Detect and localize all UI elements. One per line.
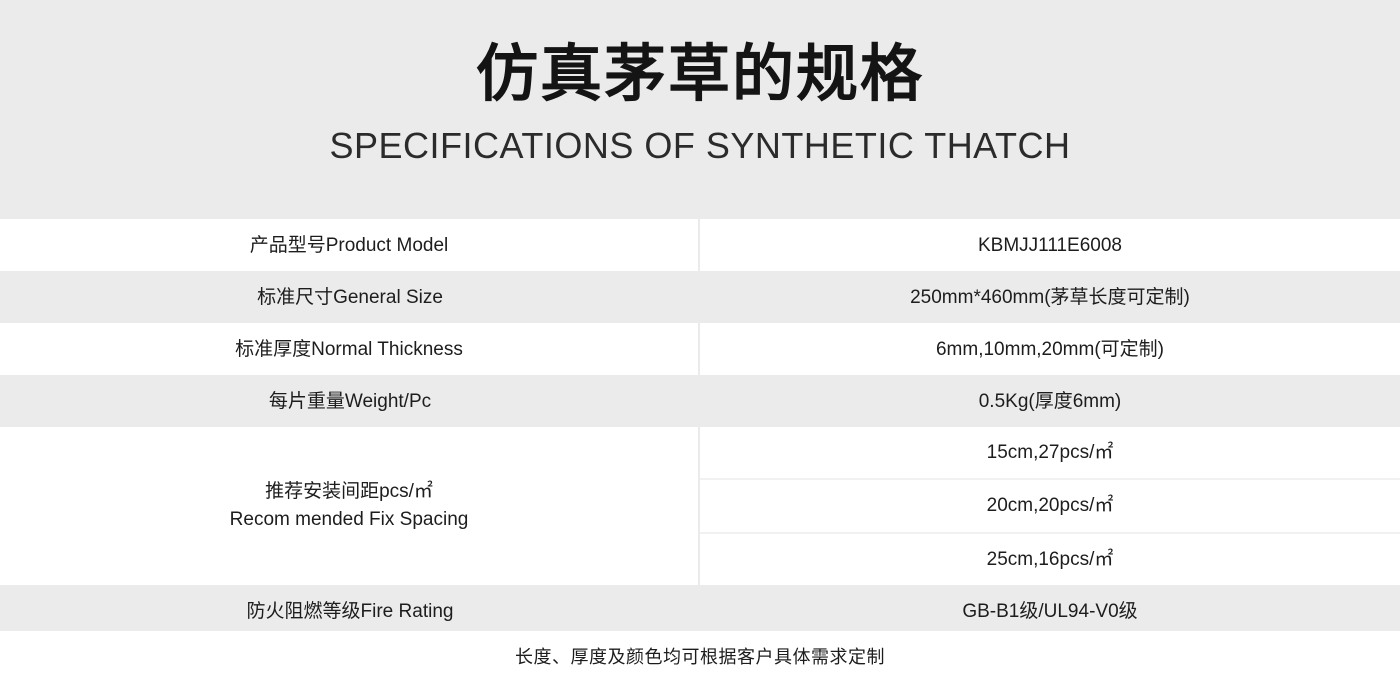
spec-label: 标准厚度Normal Thickness [0, 323, 700, 375]
spec-value: 6mm,10mm,20mm(可定制) [700, 323, 1400, 375]
spacing-label-cn: 推荐安装间距pcs/㎡ [230, 478, 469, 506]
table-row: 产品型号Product Model KBMJJ111E6008 [0, 219, 1400, 271]
spec-value: 0.5Kg(厚度6mm) [700, 375, 1400, 427]
spec-value: 250mm*460mm(茅草长度可定制) [700, 271, 1400, 323]
page-title-en: SPECIFICATIONS OF SYNTHETIC THATCH [329, 124, 1070, 168]
spacing-value-item: 20cm,20pcs/㎡ [700, 480, 1400, 533]
page-title-cn: 仿真茅草的规格 [476, 36, 924, 112]
page-header: 仿真茅草的规格 SPECIFICATIONS OF SYNTHETIC THAT… [0, 0, 1400, 219]
spec-label: 防火阻燃等级Fire Rating [0, 585, 700, 637]
spacing-label-en: Recom mended Fix Spacing [230, 506, 469, 534]
specifications-table: 产品型号Product Model KBMJJ111E6008 标准尺寸Gene… [0, 219, 1400, 637]
spec-label: 标准尺寸General Size [0, 271, 700, 323]
table-row: 每片重量Weight/Pc 0.5Kg(厚度6mm) [0, 375, 1400, 427]
spacing-values-group: 15cm,27pcs/㎡ 20cm,20pcs/㎡ 25cm,16pcs/㎡ [700, 427, 1400, 585]
spacing-value-item: 15cm,27pcs/㎡ [700, 427, 1400, 480]
spec-value: KBMJJ111E6008 [700, 219, 1400, 271]
spec-sheet-page: 仿真茅草的规格 SPECIFICATIONS OF SYNTHETIC THAT… [0, 0, 1400, 682]
table-row: 标准尺寸General Size 250mm*460mm(茅草长度可定制) [0, 271, 1400, 323]
spec-value: GB-B1级/UL94-V0级 [700, 585, 1400, 637]
table-row: 标准厚度Normal Thickness 6mm,10mm,20mm(可定制) [0, 323, 1400, 375]
spec-label: 产品型号Product Model [0, 219, 700, 271]
spec-label-spacing: 推荐安装间距pcs/㎡ Recom mended Fix Spacing [0, 427, 700, 585]
footer-note: 长度、厚度及颜色均可根据客户具体需求定制 [0, 631, 1400, 682]
spacing-value-item: 25cm,16pcs/㎡ [700, 534, 1400, 585]
table-row-spacing: 推荐安装间距pcs/㎡ Recom mended Fix Spacing 15c… [0, 427, 1400, 585]
table-row: 防火阻燃等级Fire Rating GB-B1级/UL94-V0级 [0, 585, 1400, 637]
spec-label: 每片重量Weight/Pc [0, 375, 700, 427]
